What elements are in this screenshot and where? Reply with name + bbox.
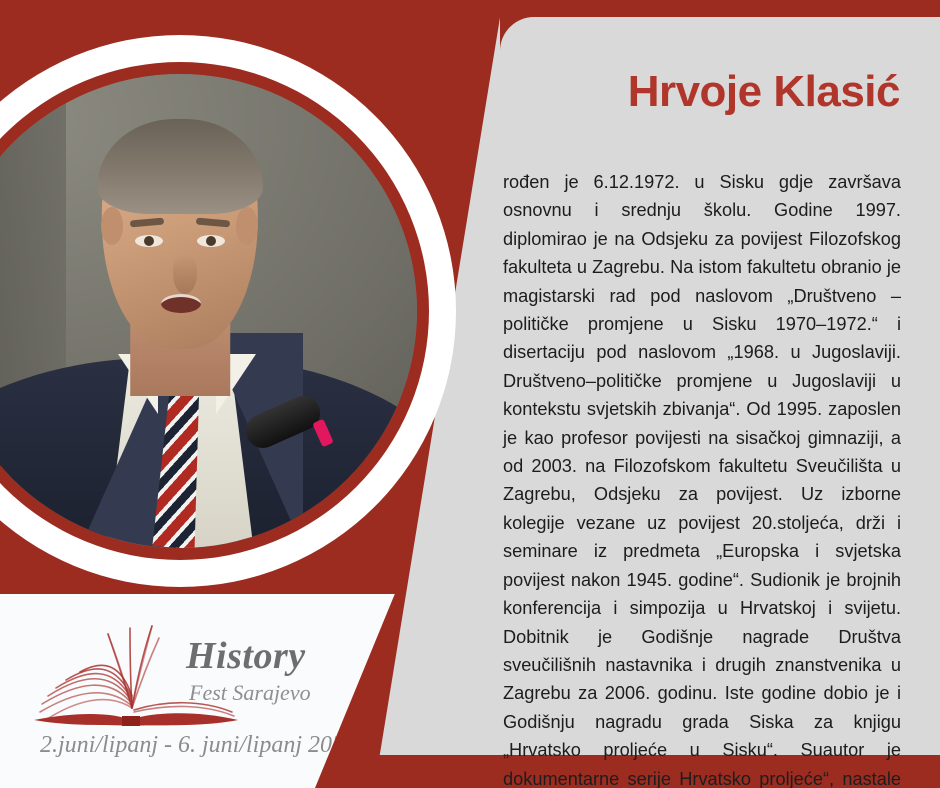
festival-subtitle: Fest Sarajevo (189, 680, 311, 706)
speaker-poster: Hrvoje Klasić rođen je 6.12.1972. u Sisk… (0, 0, 940, 788)
festival-wordmark: History (186, 634, 306, 678)
nose (173, 254, 197, 294)
ear-right (236, 207, 258, 245)
speaker-name: Hrvoje Klasić (500, 68, 900, 116)
speaker-photo (0, 74, 417, 548)
festival-logo: History Fest Sarajevo 2.juni/lipanj - 6.… (26, 608, 346, 768)
speaker-photo-ring (0, 62, 429, 560)
festival-dates: 2.juni/lipanj - 6. juni/lipanj 2025. (40, 732, 362, 759)
speaker-photo-frame (0, 35, 456, 587)
speaker-biography: rođen je 6.12.1972. u Sisku gdje završav… (503, 168, 901, 788)
ear-left (101, 207, 123, 245)
